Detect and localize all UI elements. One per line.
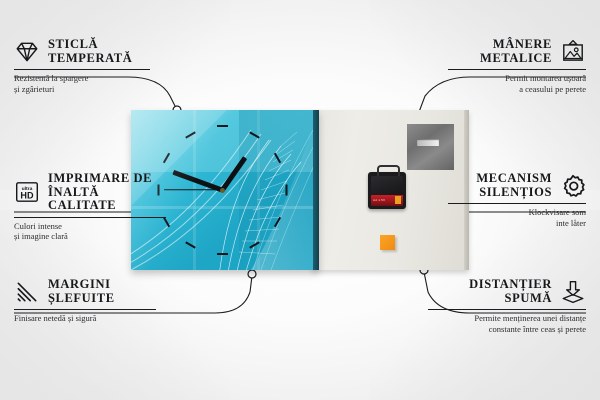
feature-divider (14, 309, 156, 310)
feature-title: MECANISM SILENȚIOS (476, 172, 552, 199)
feature-high-quality-print: ultra HD IMPRIMARE DE ÎNALTĂ CALITATE Cu… (14, 172, 166, 242)
battery-label: AA 1.5V (373, 198, 385, 202)
feature-metal-handles: MÂNERE METALICE Permit montarea ușoară a… (448, 38, 586, 94)
product-assembly: AA 1.5V (131, 110, 469, 270)
hatch-lines-icon (14, 279, 40, 305)
clock-tick (217, 253, 228, 255)
clock-back-panel: AA 1.5V (312, 110, 469, 270)
feature-title: MÂNERE METALICE (480, 38, 552, 65)
battery-terminal (395, 196, 401, 204)
glass-panel-edge (313, 110, 319, 270)
arrow-down-stack-icon (560, 279, 586, 305)
clock-hand-cap (220, 188, 225, 193)
clock-movement: AA 1.5V (368, 172, 406, 209)
feature-title: STICLĂ TEMPERATĂ (48, 38, 132, 65)
connector-dot-edges (248, 270, 256, 278)
ultra-hd-icon: ultra HD (14, 179, 40, 205)
feature-divider (428, 309, 586, 310)
feature-divider (448, 203, 586, 204)
feature-title: DISTANȚIER SPUMĂ (469, 278, 552, 305)
movement-hook (377, 165, 400, 176)
clock-tick (285, 185, 287, 196)
battery: AA 1.5V (371, 195, 403, 206)
feature-title: MARGINI ȘLEFUITE (48, 278, 115, 305)
feature-silent-mechanism: MECANISM SILENȚIOS Klockvisare som inte … (448, 172, 586, 228)
feature-subtitle: Rezistentă la spargere și zgârieturi (14, 73, 150, 94)
hanger-slot (417, 139, 439, 146)
feature-subtitle: Permite menținerea unei distanțe constan… (428, 313, 586, 334)
infographic-canvas: AA 1.5V (0, 0, 600, 400)
svg-text:HD: HD (20, 191, 34, 201)
feature-tempered-glass: STICLĂ TEMPERATĂ Rezistentă la spargere … (14, 38, 150, 94)
feature-divider (448, 69, 586, 70)
feature-subtitle: Finisare netedă și sigură (14, 313, 156, 324)
feature-title: IMPRIMARE DE ÎNALTĂ CALITATE (48, 172, 166, 213)
gear-icon (560, 173, 586, 199)
foam-spacer-pad (380, 235, 395, 250)
metal-hanger-plate (407, 124, 454, 170)
feature-subtitle: Klockvisare som inte låter (448, 207, 586, 228)
feature-subtitle: Permit montarea ușoară a ceasului pe per… (448, 73, 586, 94)
feature-polished-edges: MARGINI ȘLEFUITE Finisare netedă și sigu… (14, 278, 156, 324)
feature-divider (14, 69, 150, 70)
framed-picture-icon (560, 39, 586, 65)
clock-tick (217, 125, 228, 127)
feature-foam-spacer: DISTANȚIER SPUMĂ Permite menținerea unei… (428, 278, 586, 334)
diamond-icon (14, 39, 40, 65)
feature-divider (14, 217, 166, 218)
feature-subtitle: Culori intense și imagine clară (14, 221, 166, 242)
